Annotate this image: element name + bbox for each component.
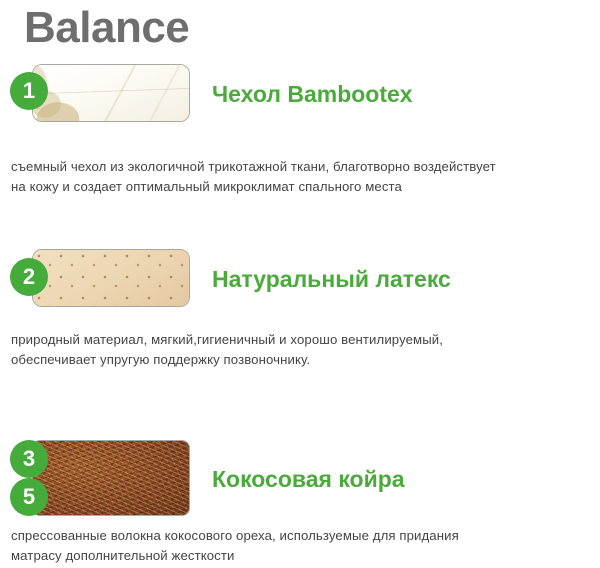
layer-description-cover: съемный чехол из экологичной трикотажной… xyxy=(11,157,600,197)
latex-texture xyxy=(33,250,189,306)
coir-texture xyxy=(33,441,189,515)
layer-badge-3: 3 xyxy=(10,440,48,478)
layer-row: Кокосовая койра xyxy=(0,440,600,522)
layer-heading-cover: Чехол Bambootex xyxy=(212,81,413,107)
layer-description-coir: спрессованные волокна кокосового ореха, … xyxy=(11,526,591,566)
layer-badge-5: 5 xyxy=(10,478,48,516)
layer-block-coir: Кокосовая койра xyxy=(0,440,600,522)
bamboo-texture xyxy=(33,65,189,121)
layer-block-cover: Чехол Bambootex xyxy=(0,64,600,146)
natural-latex-swatch xyxy=(32,249,190,307)
layer-block-latex: Натуральный латекс xyxy=(0,249,600,331)
layer-badge-1: 1 xyxy=(10,72,48,110)
layer-heading-coir: Кокосовая койра xyxy=(212,466,405,492)
layer-description-latex: природный материал, мягкий,гигиеничный и… xyxy=(11,330,591,370)
layer-row: Чехол Bambootex xyxy=(0,64,600,146)
layer-badge-2: 2 xyxy=(10,258,48,296)
bamboo-knit-cover-swatch xyxy=(32,64,190,122)
layer-heading-latex: Натуральный латекс xyxy=(212,266,451,292)
layer-row: Натуральный латекс xyxy=(0,249,600,331)
page-title: Balance xyxy=(24,2,189,54)
coconut-coir-swatch xyxy=(32,440,190,516)
